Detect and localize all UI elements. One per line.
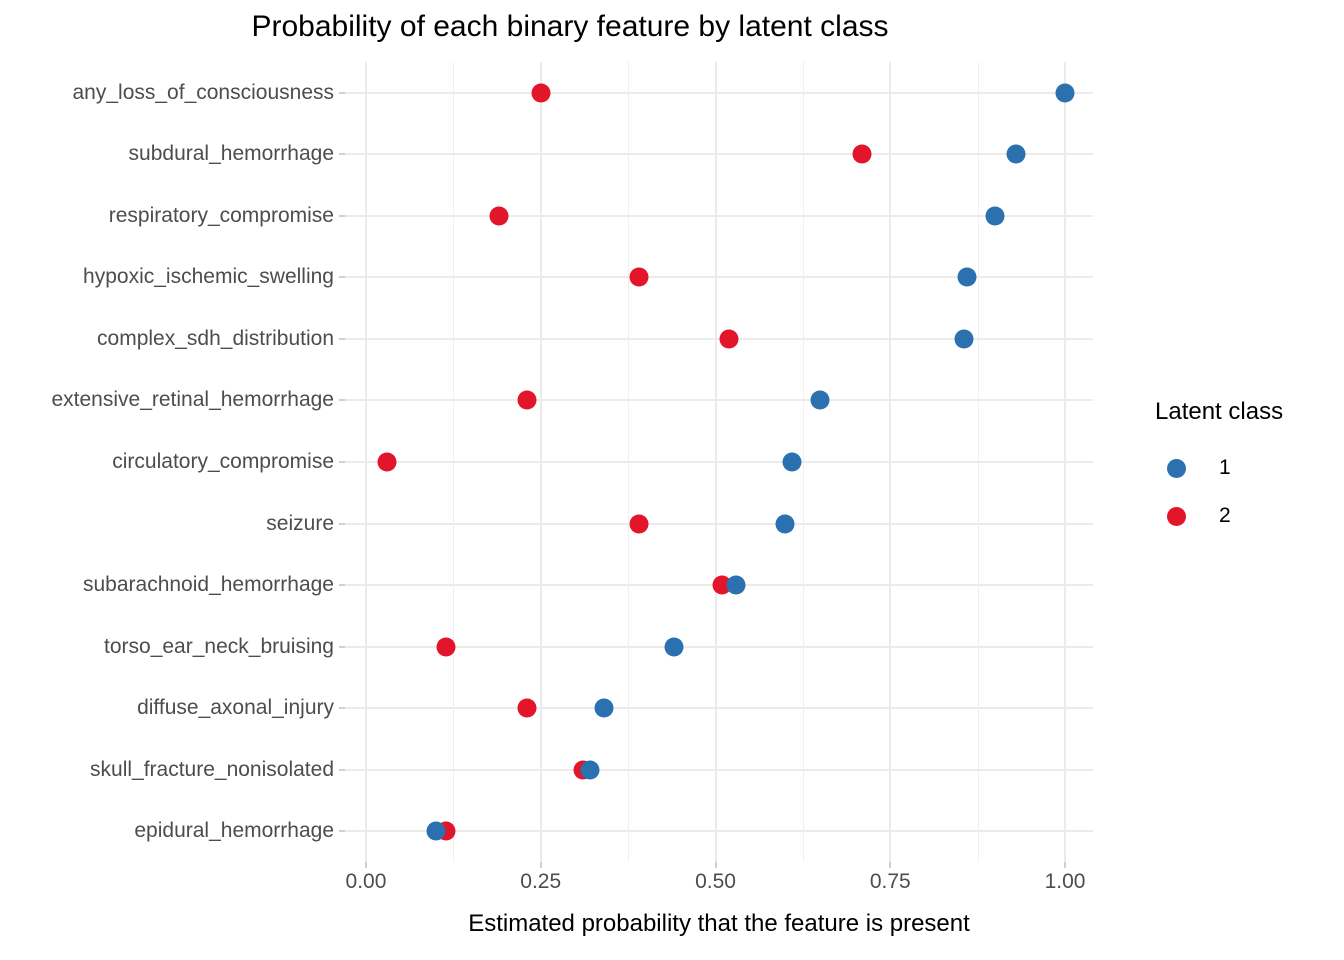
data-point [727,576,746,595]
gridline-horizontal [345,830,1093,832]
data-point [517,699,536,718]
y-axis-tick-label: subdural_hemorrhage [129,142,334,166]
y-axis-ticks [337,62,345,862]
x-axis-tick-mark [540,862,542,868]
y-axis-tick-label: respiratory_compromise [109,204,334,228]
legend-title: Latent class [1155,398,1340,426]
legend-dot-icon [1167,507,1186,526]
data-point [437,637,456,656]
data-point [517,391,536,410]
gridline-horizontal [345,92,1093,94]
gridline-horizontal [345,461,1093,463]
y-axis-tick-label: diffuse_axonal_injury [137,696,334,720]
gridline-horizontal [345,276,1093,278]
y-axis-tick-label: torso_ear_neck_bruising [104,635,334,659]
data-point [531,83,550,102]
gridline-vertical-major [715,62,717,862]
y-axis-tick-label: complex_sdh_distribution [97,327,334,351]
x-axis: 0.000.250.500.751.00 [345,862,1093,908]
x-axis-tick-label: 1.00 [1045,870,1086,894]
gridline-vertical-minor [803,62,804,862]
x-axis-tick-label: 0.50 [695,870,736,894]
y-axis-tick-label: epidural_hemorrhage [134,819,334,843]
data-point [377,453,396,472]
gridline-horizontal [345,769,1093,771]
x-axis-tick-mark [889,862,891,868]
data-point [594,699,613,718]
y-axis-tick-label: hypoxic_ischemic_swelling [83,265,334,289]
y-axis-tick-label: subarachnoid_hemorrhage [83,573,334,597]
plot-panel [345,62,1093,862]
gridline-horizontal [345,523,1093,525]
legend-item-label: 2 [1219,504,1231,528]
gridline-horizontal [345,153,1093,155]
data-point [986,206,1005,225]
x-axis-tick-mark [715,862,717,868]
y-axis-tick-label: circulatory_compromise [112,450,334,474]
data-point [720,329,739,348]
gridline-vertical-major [889,62,891,862]
x-axis-tick-label: 0.00 [346,870,387,894]
gridline-horizontal [345,399,1093,401]
gridline-horizontal [345,707,1093,709]
x-axis-tick-label: 0.25 [520,870,561,894]
gridline-vertical-major [365,62,367,862]
data-point [426,822,445,841]
data-point [811,391,830,410]
chart-page: Probability of each binary feature by la… [0,0,1344,960]
data-point [629,514,648,533]
y-axis-tick-label: any_loss_of_consciousness [73,81,335,105]
x-axis-tick-label: 0.75 [870,870,911,894]
legend-item-label: 1 [1219,456,1231,480]
x-axis-tick-mark [1064,862,1066,868]
y-axis-tick-label: seizure [266,512,334,536]
data-point [489,206,508,225]
y-axis-tick-label: extensive_retinal_hemorrhage [51,388,334,412]
data-point [664,637,683,656]
legend-swatch [1155,459,1197,478]
gridline-vertical-major [1064,62,1066,862]
x-axis-title: Estimated probability that the feature i… [345,910,1093,938]
gridline-vertical-minor [453,62,454,862]
legend-item-1: 1 [1155,444,1340,492]
data-point [958,268,977,287]
y-axis-tick-label: skull_fracture_nonisolated [90,758,334,782]
data-point [776,514,795,533]
data-point [580,760,599,779]
legend-item-2: 2 [1155,492,1340,540]
legend-entries: 12 [1155,444,1340,540]
gridline-vertical-minor [978,62,979,862]
y-axis-labels: any_loss_of_consciousnesssubdural_hemorr… [0,62,334,862]
x-axis-tick-mark [365,862,367,868]
data-point [783,453,802,472]
legend-dot-icon [1167,459,1186,478]
legend: Latent class 12 [1155,398,1340,540]
data-point [1007,145,1026,164]
gridline-vertical-major [540,62,542,862]
data-point [954,329,973,348]
chart-title: Probability of each binary feature by la… [0,10,1140,44]
legend-swatch [1155,507,1197,526]
data-point [629,268,648,287]
gridline-vertical-minor [628,62,629,862]
data-point [1056,83,1075,102]
gridline-horizontal [345,215,1093,217]
data-point [853,145,872,164]
gridline-horizontal [345,646,1093,648]
